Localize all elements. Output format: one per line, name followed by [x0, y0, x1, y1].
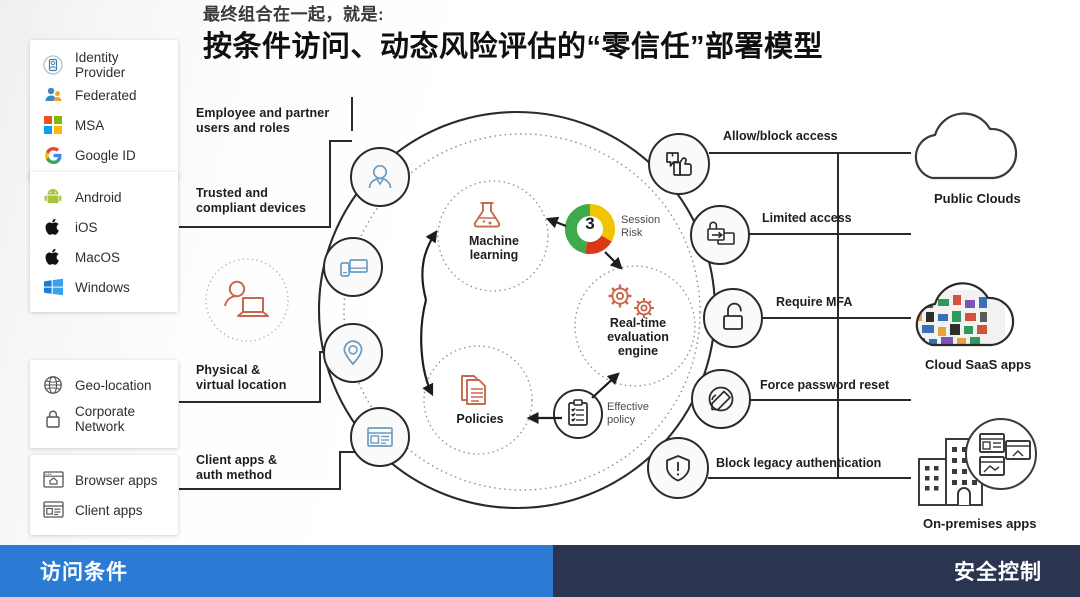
target-label-on-premises-apps: On-premises apps [923, 516, 1036, 531]
list-item[interactable]: Identity Provider [42, 50, 166, 80]
windows-logo-icon [42, 276, 64, 298]
cloud-apps-icon [905, 283, 1013, 352]
list-item[interactable]: iOS [42, 212, 166, 242]
signal-label-location: Physical & virtual location [196, 363, 287, 393]
page-title: 最终组合在一起，就是: 按条件访问、动态风险评估的“零信任”部署模型 [203, 2, 823, 67]
list-item-label: Browser apps [75, 473, 158, 488]
signal-label-users: Employee and partner users and roles [196, 106, 329, 136]
bottom-bar-right: 安全控制 [553, 545, 1080, 597]
slide-canvas: 最终组合在一起，就是: 按条件访问、动态风险评估的“零信任”部署模型 [0, 0, 1080, 597]
location-card[interactable]: Geo-location CorporateNetwork [30, 360, 178, 448]
list-item[interactable]: Federated [42, 80, 166, 110]
client-window-icon [42, 499, 64, 521]
list-item[interactable]: Google ID [42, 140, 166, 170]
federated-user-icon [42, 84, 64, 106]
signal-label-clientapps: Client apps & auth method [196, 453, 277, 483]
identity-provider-card[interactable]: Identity Provider Federated MSA Google I… [30, 40, 178, 180]
action-label-block-legacy-auth: Block legacy authentication [716, 456, 881, 470]
microsoft-logo-icon [42, 114, 64, 136]
outer-ring [319, 112, 715, 508]
list-item[interactable]: Android [42, 182, 166, 212]
list-item-label: Federated [75, 88, 137, 103]
list-item-label: Android [75, 190, 122, 205]
bottom-bar-left-label: 访问条件 [40, 556, 128, 586]
list-item-label: Identity Provider [75, 50, 166, 80]
list-item-label: Windows [75, 280, 130, 295]
android-logo-icon [42, 186, 64, 208]
google-logo-icon [42, 144, 64, 166]
signal-circles [324, 148, 409, 466]
effective-policy-circle [554, 390, 602, 438]
target-label-cloud-saas-apps: Cloud SaaS apps [925, 357, 1031, 372]
session-risk-value: 3 [575, 214, 605, 234]
action-label-force-password-reset: Force password reset [760, 378, 889, 392]
list-item[interactable]: Browser apps [42, 465, 166, 495]
user-device-badge-ring [206, 259, 288, 341]
bottom-bar-left: 访问条件 [0, 545, 553, 597]
list-item-label: Client apps [75, 503, 143, 518]
device-platform-card[interactable]: Android iOS MacOS Windows [30, 172, 178, 312]
apple-logo-icon [42, 246, 64, 268]
machine-learning-label: Machine learning [452, 234, 536, 262]
effective-policy-label: Effective policy [607, 401, 661, 427]
list-item-label: iOS [75, 220, 98, 235]
padlock-icon [42, 408, 64, 430]
left-connectors [179, 97, 357, 489]
identity-badge-icon [42, 54, 64, 76]
bottom-bar: 访问条件 安全控制 [0, 545, 1080, 597]
list-item-label: Geo-location [75, 378, 152, 393]
flask-icon [475, 203, 500, 227]
documents-icon [462, 376, 485, 404]
list-item[interactable]: Geo-location [42, 370, 166, 400]
action-label-allow-block: Allow/block access [723, 129, 838, 143]
list-item[interactable]: CorporateNetwork [42, 400, 166, 438]
title-subtitle: 最终组合在一起，就是: [203, 2, 823, 28]
browser-window-icon [42, 469, 64, 491]
list-item[interactable]: MacOS [42, 242, 166, 272]
clipboard-checklist-icon [569, 400, 587, 425]
list-item-label: MSA [75, 118, 104, 133]
target-label-public-clouds: Public Clouds [934, 191, 1021, 206]
policies-bubble [424, 346, 532, 454]
policies-label: Policies [440, 412, 520, 426]
action-connectors [708, 153, 911, 478]
list-item-label: MacOS [75, 250, 120, 265]
cloud-outline-icon [916, 114, 1016, 178]
gears-icon [609, 285, 655, 319]
action-label-limited-access: Limited access [762, 211, 852, 225]
apple-logo-icon [42, 216, 64, 238]
list-item[interactable]: Client apps [42, 495, 166, 525]
bottom-bar-right-label: 安全控制 [954, 556, 1042, 586]
inner-dotted-ring [344, 134, 700, 490]
person-laptop-icon [225, 282, 268, 316]
list-item-label: Google ID [75, 148, 136, 163]
buildings-apps-icon [919, 419, 1036, 505]
list-item[interactable]: MSA [42, 110, 166, 140]
action-label-require-mfa: Require MFA [776, 295, 852, 309]
globe-icon [42, 374, 64, 396]
signal-label-devices: Trusted and compliant devices [196, 186, 306, 216]
realtime-engine-label: Real-time evaluation engine [592, 316, 684, 358]
list-item-label: CorporateNetwork [75, 404, 135, 434]
title-main: 按条件访问、动态风险评估的“零信任”部署模型 [203, 27, 823, 67]
list-item[interactable]: Windows [42, 272, 166, 302]
session-risk-label: Session Risk [621, 214, 669, 240]
apps-card[interactable]: Browser apps Client apps [30, 455, 178, 535]
